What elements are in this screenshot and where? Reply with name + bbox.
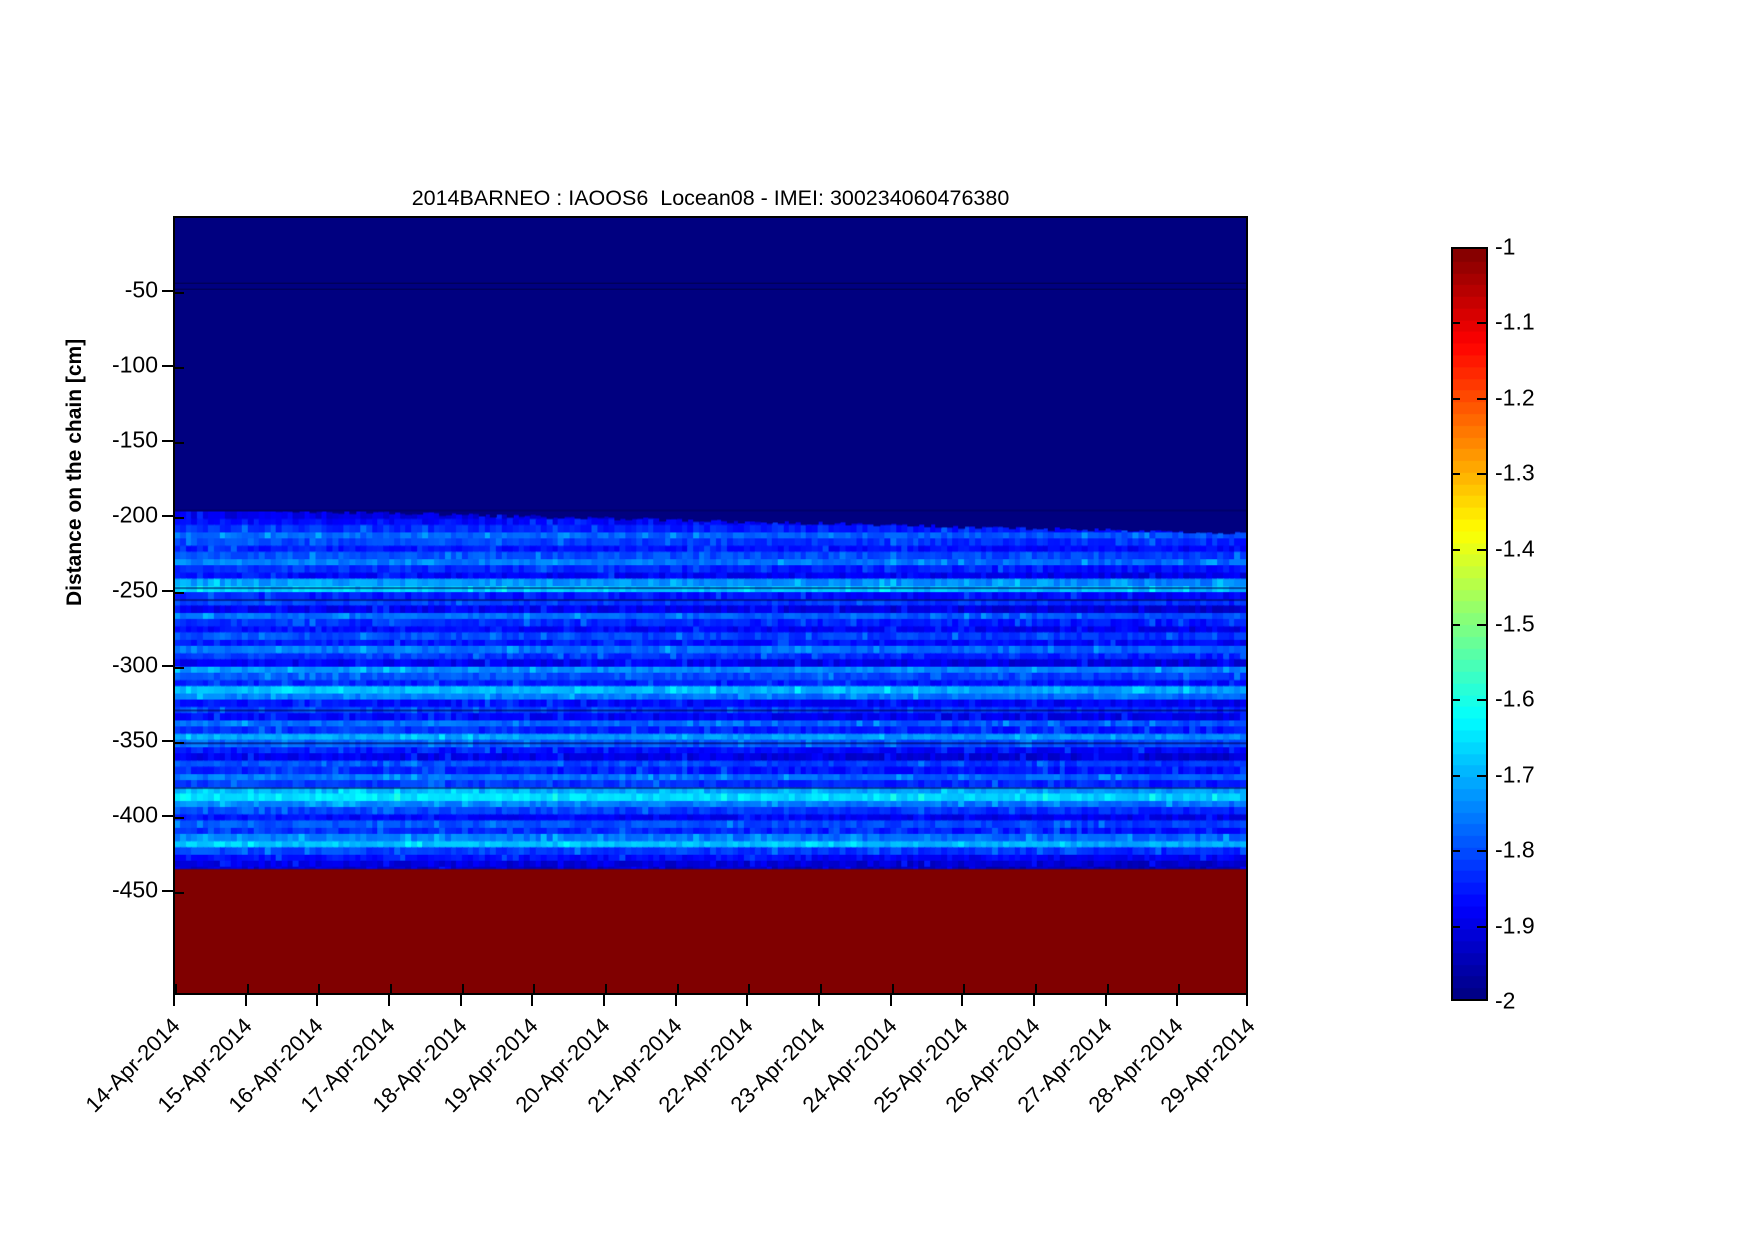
colorbar-tick-mark — [1477, 322, 1486, 324]
colorbar-tick-label: -1.9 — [1495, 913, 1535, 940]
x-tick-mark-inner — [1178, 984, 1180, 993]
x-tick-mark-inner — [605, 984, 607, 993]
colorbar-tick-mark — [1477, 549, 1486, 551]
y-tick-label: -200 — [112, 502, 158, 529]
colorbar-tick-mark — [1451, 926, 1460, 928]
y-tick-label: -400 — [112, 802, 158, 829]
y-tick-label: -300 — [112, 652, 158, 679]
colorbar-tick-mark — [1477, 850, 1486, 852]
colorbar-tick-labels: -1-1.1-1.2-1.3-1.4-1.5-1.6-1.7-1.8-1.9-2 — [1451, 247, 1631, 1001]
colorbar-tick-label: -1.2 — [1495, 385, 1535, 412]
colorbar-tick-label: -2 — [1495, 988, 1515, 1015]
x-axis-tick-labels: 14-Apr-201415-Apr-201416-Apr-201417-Apr-… — [0, 995, 1756, 1235]
y-tick-mark-outer — [162, 590, 173, 592]
y-tick-mark — [175, 742, 184, 744]
colorbar-tick-label: -1.7 — [1495, 762, 1535, 789]
y-tick-mark-outer — [162, 665, 173, 667]
colorbar-tick-mark — [1477, 398, 1486, 400]
y-axis-tick-labels: -50-100-150-200-250-300-350-400-450 — [0, 216, 158, 995]
colorbar-tick-mark — [1451, 850, 1460, 852]
colorbar-tick-mark — [1477, 926, 1486, 928]
x-tick-mark-inner — [533, 984, 535, 993]
x-tick-mark-inner — [963, 984, 965, 993]
x-tick-mark-inner — [1107, 984, 1109, 993]
colorbar-tick-label: -1.6 — [1495, 686, 1535, 713]
y-tick-label: -350 — [112, 727, 158, 754]
x-tick-mark-inner — [892, 984, 894, 993]
colorbar-tick-label: -1.8 — [1495, 837, 1535, 864]
colorbar-tick-mark — [1477, 624, 1486, 626]
colorbar-tick-mark — [1451, 549, 1460, 551]
y-tick-mark — [175, 817, 184, 819]
x-tick-mark-inner — [677, 984, 679, 993]
colorbar-tick-mark — [1477, 699, 1486, 701]
colorbar-tick-mark — [1451, 699, 1460, 701]
colorbar-tick-mark — [1477, 775, 1486, 777]
y-tick-mark-outer — [162, 290, 173, 292]
y-tick-mark-outer — [162, 815, 173, 817]
x-tick-mark-inner — [318, 984, 320, 993]
x-tick-mark-inner — [247, 984, 249, 993]
y-tick-label: -150 — [112, 427, 158, 454]
y-tick-mark — [175, 292, 184, 294]
colorbar-tick-mark — [1451, 398, 1460, 400]
y-tick-label: -50 — [125, 277, 158, 304]
y-tick-mark-outer — [162, 890, 173, 892]
y-tick-mark — [175, 442, 184, 444]
colorbar-tick-mark — [1451, 322, 1460, 324]
y-tick-mark-outer — [162, 740, 173, 742]
y-tick-mark — [175, 892, 184, 894]
y-tick-mark — [175, 667, 184, 669]
y-tick-mark-outer — [162, 515, 173, 517]
heatmap-axes — [173, 216, 1248, 995]
figure-canvas: 2014BARNEO : IAOOS6 Locean08 - IMEI: 300… — [0, 0, 1756, 1243]
colorbar-tick-label: -1.5 — [1495, 611, 1535, 638]
colorbar-tick-label: -1 — [1495, 234, 1515, 261]
colorbar-tick-label: -1.1 — [1495, 309, 1535, 336]
x-tick-mark-inner — [462, 984, 464, 993]
y-tick-mark-outer — [162, 365, 173, 367]
y-tick-label: -450 — [112, 877, 158, 904]
x-tick-mark-inner — [1035, 984, 1037, 993]
y-tick-mark — [175, 592, 184, 594]
heatmap-image — [175, 218, 1246, 993]
colorbar-tick-mark — [1451, 473, 1460, 475]
colorbar-tick-mark — [1451, 624, 1460, 626]
x-tick-mark-inner — [748, 984, 750, 993]
y-tick-mark-outer — [162, 440, 173, 442]
x-tick-mark-inner — [390, 984, 392, 993]
page-title: 2014BARNEO : IAOOS6 Locean08 - IMEI: 300… — [173, 186, 1248, 211]
y-tick-mark — [175, 367, 184, 369]
y-tick-mark — [175, 517, 184, 519]
colorbar-tick-label: -1.3 — [1495, 460, 1535, 487]
colorbar-tick-mark — [1477, 473, 1486, 475]
colorbar-tick-label: -1.4 — [1495, 536, 1535, 563]
y-tick-label: -100 — [112, 352, 158, 379]
y-tick-label: -250 — [112, 577, 158, 604]
colorbar-tick-mark — [1451, 775, 1460, 777]
x-tick-mark-inner — [175, 984, 177, 993]
x-tick-mark-inner — [820, 984, 822, 993]
